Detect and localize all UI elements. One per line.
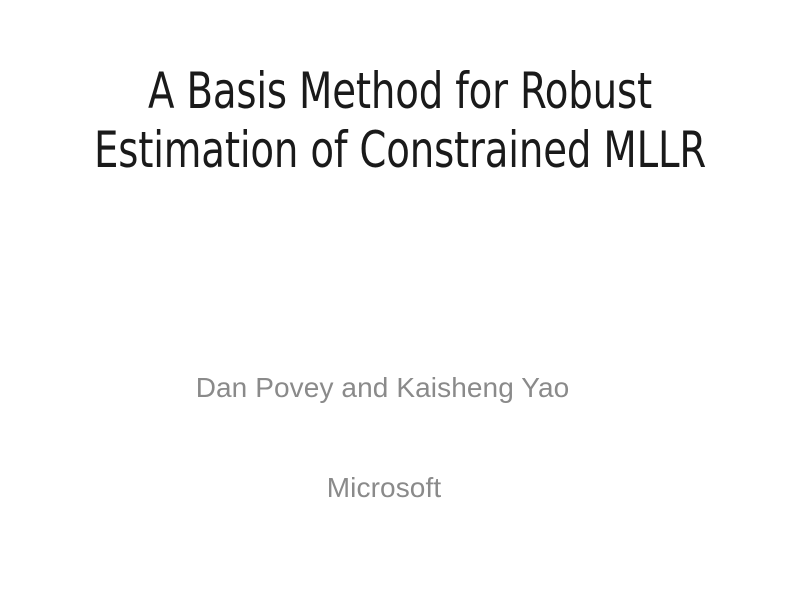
slide-title: A Basis Method for Robust Estimation of … — [0, 62, 800, 180]
slide-subtitle: Dan Povey and Kaisheng Yao — [0, 368, 765, 408]
affiliation-line: Microsoft — [0, 468, 768, 508]
authors-line: Dan Povey and Kaisheng Yao — [0, 368, 765, 408]
presentation-slide: A Basis Method for Robust Estimation of … — [0, 0, 800, 599]
slide-affiliation: Microsoft — [0, 468, 768, 508]
title-line-1: A Basis Method for Robust — [56, 62, 744, 121]
title-line-2: Estimation of Constrained MLLR — [56, 121, 744, 180]
